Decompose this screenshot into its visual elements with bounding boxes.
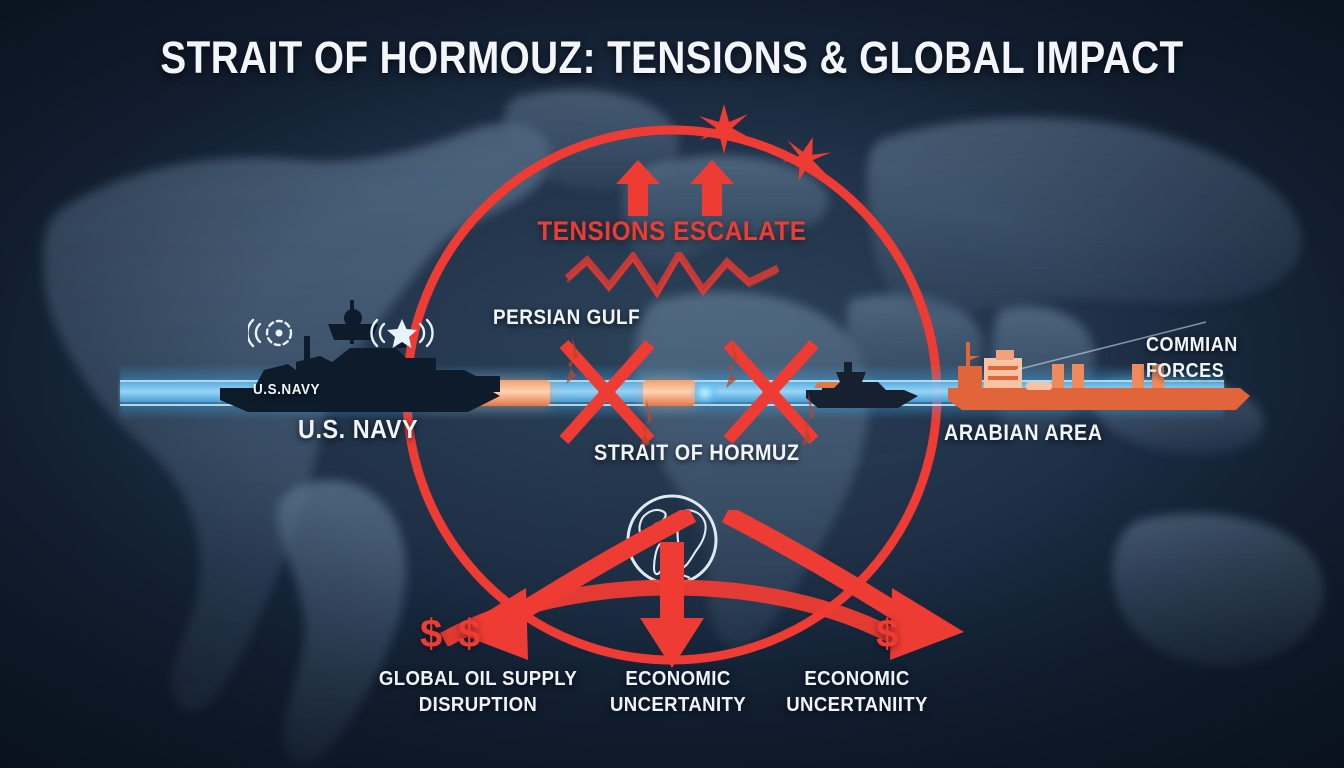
persian-gulf-label: PERSIAN GULF bbox=[493, 306, 640, 330]
arabian-area-label: ARABIAN AREA bbox=[944, 420, 1103, 446]
impact-econ-right-line1: ECONOMIC bbox=[750, 666, 964, 692]
impact-econ-center-line1: ECONOMIC bbox=[578, 666, 779, 692]
dollar-sign-icon-3: $ bbox=[876, 612, 898, 657]
impact-label-economic-right: ECONOMIC UNCERTANIITY bbox=[750, 666, 964, 719]
strait-of-hormuz-label: STRAIT OF HORMUZ bbox=[594, 440, 800, 466]
navy-ship-hull-label: U.S.NAVY bbox=[253, 381, 320, 398]
impact-oil-line1: GLOBAL OIL SUPPLY bbox=[339, 666, 618, 692]
impact-oil-line2: DISRUPTION bbox=[339, 692, 618, 718]
us-navy-label: U.S. NAVY bbox=[298, 414, 418, 445]
infographic-canvas: STRAIT OF HORMOUZ: TENSIONS & GLOBAL IMP… bbox=[0, 0, 1344, 768]
tensions-escalate-label: TENSIONS ESCALATE bbox=[67, 216, 1277, 247]
radar-signal-icon bbox=[248, 312, 310, 359]
impact-econ-right-line2: UNCERTANIITY bbox=[750, 692, 964, 718]
star-signal-icon bbox=[370, 312, 434, 359]
dollar-sign-icon-1: $ bbox=[420, 612, 442, 657]
dollar-sign-icon-2: $ bbox=[458, 612, 480, 657]
page-title: STRAIT OF HORMOUZ: TENSIONS & GLOBAL IMP… bbox=[94, 34, 1250, 81]
lane-flashpoint bbox=[688, 382, 722, 404]
impact-label-oil: GLOBAL OIL SUPPLY DISRUPTION bbox=[339, 666, 618, 719]
commian-forces-label-line2: FORCES bbox=[1146, 360, 1224, 383]
warship-icon bbox=[200, 296, 500, 412]
impact-label-economic-center: ECONOMIC UNCERTANITY bbox=[578, 666, 779, 719]
impact-econ-center-line2: UNCERTANITY bbox=[578, 692, 779, 718]
patrol-boat-icon bbox=[800, 358, 918, 410]
commian-forces-label-line1: COMMIAN bbox=[1146, 334, 1238, 357]
